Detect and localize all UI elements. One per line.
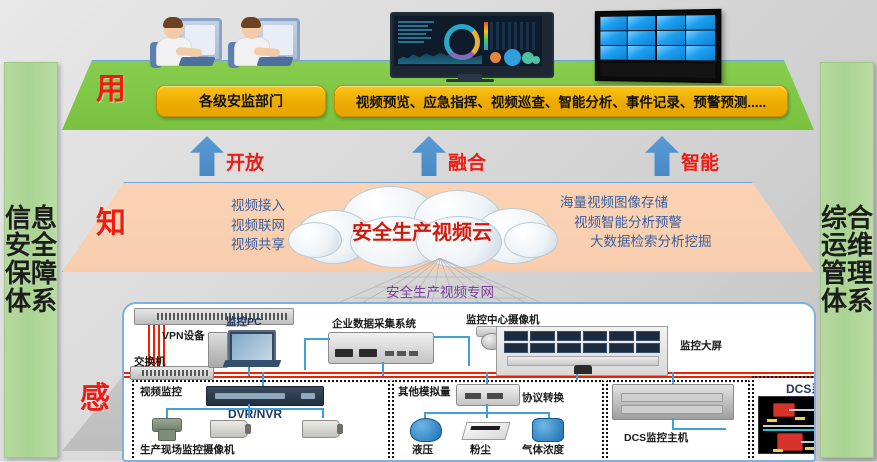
switch-label: 交换机 bbox=[134, 354, 166, 369]
sensor-label-dust: 粉尘 bbox=[470, 442, 491, 457]
pill-safety-departments[interactable]: 各级安监部门 bbox=[156, 85, 326, 117]
link-line bbox=[486, 404, 488, 418]
link-line bbox=[166, 408, 168, 418]
operator-workstation-icon bbox=[150, 12, 222, 74]
enterprise-data-collector-icon bbox=[328, 332, 434, 364]
cloud-title: 安全生产视频云 bbox=[288, 216, 556, 245]
ptz-camera-icon bbox=[150, 418, 184, 440]
architecture-diagram: 信息安全保障体系 综合运维管理体系 用 知 感 bbox=[0, 0, 877, 461]
monitor-video-wall-icon bbox=[496, 326, 668, 376]
video-cloud-icon: 安全生产视频云 bbox=[288, 186, 556, 268]
sense-layer-letter: 感 bbox=[80, 373, 110, 417]
arrow-open-icon bbox=[190, 136, 224, 176]
arrow-fusion-icon bbox=[412, 136, 446, 176]
link-line bbox=[468, 336, 470, 366]
monitor-pc-screen-icon bbox=[228, 330, 276, 364]
rail-left-label: 信息安全保障体系 bbox=[5, 205, 57, 315]
pill-functions-label: 视频预览、应急指挥、视频巡查、智能分析、事件记录、预警预测..... bbox=[356, 91, 766, 111]
arrow-fusion-label: 融合 bbox=[448, 148, 486, 175]
link-line bbox=[304, 338, 330, 340]
dcs-host-label: DCS监控主机 bbox=[624, 430, 688, 445]
use-layer-letter: 用 bbox=[96, 64, 126, 108]
video-wall-display-icon bbox=[595, 9, 722, 83]
link-line bbox=[672, 418, 674, 428]
site-camera-label: 生产现场监控摄像机 bbox=[140, 442, 235, 457]
cloud-left-line: 视频共享 bbox=[100, 235, 285, 255]
integrated-om-system-rail: 综合运维管理体系 bbox=[820, 62, 874, 458]
analog-signal-title: 其他模拟量 bbox=[398, 384, 451, 399]
private-network-label: 安全生产视频专网 bbox=[332, 281, 548, 301]
gas-sensor-icon bbox=[532, 418, 564, 442]
pill-dept-label: 各级安监部门 bbox=[199, 91, 283, 111]
link-line bbox=[262, 372, 264, 386]
dust-sensor-icon bbox=[461, 422, 510, 440]
monitor-pc-label: 监控PC bbox=[226, 314, 262, 329]
dvr-nvr-icon bbox=[206, 386, 324, 406]
cloud-right-line: 视频智能分析预警 bbox=[574, 213, 780, 233]
monitor-video-wall-label: 监控大屏 bbox=[680, 338, 722, 353]
hydraulic-sensor-icon bbox=[410, 418, 442, 442]
sensor-label-gas: 气体浓度 bbox=[522, 442, 564, 457]
bus-line bbox=[124, 376, 814, 378]
dcs-host-icon bbox=[612, 384, 734, 420]
dcs-hmi-screenshot bbox=[758, 396, 816, 454]
link-line bbox=[434, 336, 470, 338]
cloud-right-line: 大数据检索分析挖掘 bbox=[590, 232, 780, 252]
link-line bbox=[382, 362, 384, 376]
dcs-system-title: DCS系统 bbox=[786, 380, 816, 397]
link-line bbox=[248, 404, 250, 418]
protocol-converter-icon bbox=[456, 384, 520, 406]
information-security-system-rail: 信息安全保障体系 bbox=[4, 62, 58, 458]
link-line bbox=[248, 367, 250, 376]
monitor-pc-keyboard-icon bbox=[223, 360, 282, 367]
device-layer-panel: VPN设备 交换机 监控PC 企业数据采集系统 监控中心摄像机 bbox=[122, 302, 816, 462]
video-surveillance-title: 视频监控 bbox=[140, 384, 182, 399]
cloud-left-capabilities: 视频接入 视频联网 视频共享 bbox=[130, 196, 285, 255]
box-camera-icon bbox=[210, 420, 248, 438]
box-camera-icon bbox=[302, 420, 340, 438]
cloud-left-line: 视频接入 bbox=[130, 196, 285, 216]
bi-dashboard-monitor-icon bbox=[390, 12, 550, 82]
vpn-device-label: VPN设备 bbox=[162, 328, 205, 343]
enterprise-data-collector-label: 企业数据采集系统 bbox=[332, 316, 416, 331]
bus-line bbox=[124, 372, 814, 374]
vpn-device-icon bbox=[134, 308, 294, 325]
cloud-right-capabilities: 海量视频图像存储 视频智能分析预警 大数据检索分析挖掘 bbox=[560, 193, 780, 252]
arrow-intelligent-label: 智能 bbox=[681, 148, 719, 175]
link-line bbox=[322, 408, 324, 418]
cloud-left-line: 视频联网 bbox=[116, 216, 285, 236]
pill-platform-functions[interactable]: 视频预览、应急指挥、视频巡查、智能分析、事件记录、预警预测..... bbox=[334, 85, 788, 117]
arrow-intelligent-icon bbox=[645, 136, 679, 176]
arrow-open-label: 开放 bbox=[226, 148, 264, 175]
cloud-right-line: 海量视频图像存储 bbox=[560, 193, 780, 213]
sensor-label-hydraulic: 液压 bbox=[412, 442, 433, 457]
link-line bbox=[166, 408, 322, 410]
rail-right-label: 综合运维管理体系 bbox=[821, 205, 873, 315]
link-line bbox=[672, 372, 674, 384]
link-line bbox=[486, 372, 488, 384]
protocol-converter-label: 协议转换 bbox=[522, 390, 564, 405]
control-center-camera-label: 监控中心摄像机 bbox=[466, 312, 540, 327]
link-line bbox=[304, 338, 306, 370]
operator-workstation-icon bbox=[228, 12, 300, 74]
